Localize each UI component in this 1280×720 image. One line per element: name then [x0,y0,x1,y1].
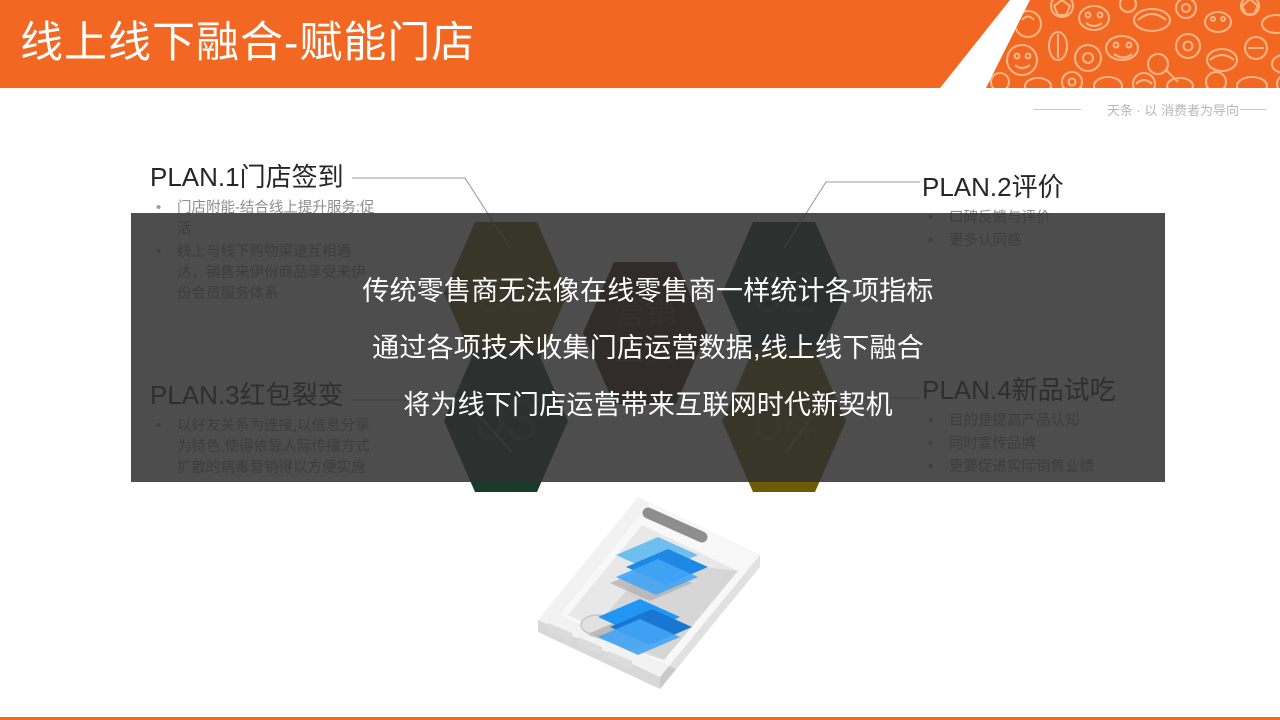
header-bar: 线上线下融合-赋能门店 [0,0,1280,88]
page-title: 线上线下融合-赋能门店 [20,12,475,74]
tagline-rule-right [1240,109,1266,110]
tagline-rule-left [1033,109,1081,110]
plan-1-title: PLAN.1门店签到 [150,160,375,194]
dark-overlay-panel [131,213,1165,482]
tagline: 天条 · 以 消费者为导向 [1033,100,1266,119]
tagline-text: 天条 · 以 消费者为导向 [1107,100,1239,119]
plan-2-title: PLAN.2评价 [922,170,1172,204]
doodle-fruit-pattern-icon [986,0,1280,88]
